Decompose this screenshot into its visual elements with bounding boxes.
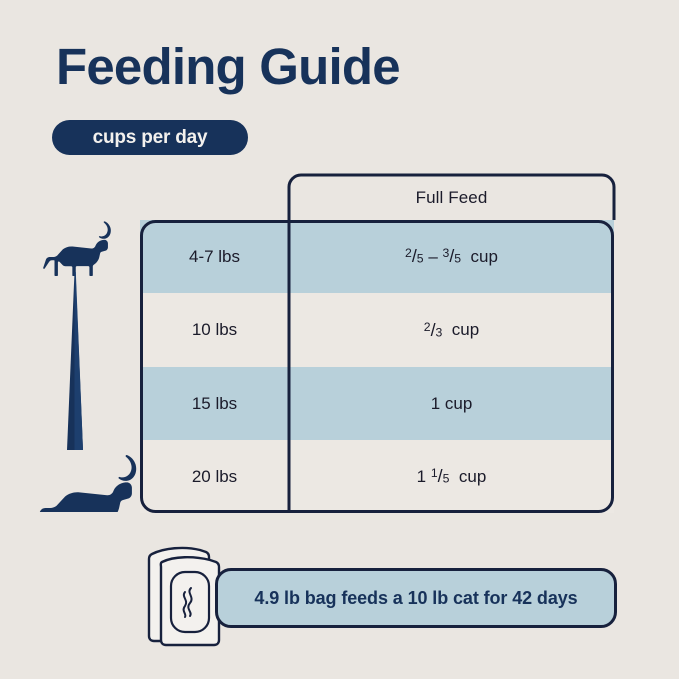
table-outline [142,222,613,512]
bag-callout: 4.9 lb bag feeds a 10 lb cat for 42 days [140,540,630,650]
page-title: Feeding Guide [56,41,400,92]
callout-bar: 4.9 lb bag feeds a 10 lb cat for 42 days [215,568,617,628]
cat-silhouette-small-icon [43,221,111,276]
table-header-full-feed: Full Feed [289,175,614,220]
badge-label: cups per day [93,127,208,149]
cups-per-day-badge: cups per day [52,120,248,155]
table-outline-svg [140,220,614,513]
cat-silhouette-large-icon [36,455,136,512]
cat-scale-svg [30,212,140,512]
cat-size-scale-illustration [30,212,140,512]
feeding-guide-page: Feeding Guide cups per day 4-7 l [0,0,679,679]
callout-text: 4.9 lb bag feeds a 10 lb cat for 42 days [254,588,577,609]
feeding-table: 4-7 lbs 2/5 – 3/5 cup 10 lbs 2/3 cup 15 … [140,220,614,513]
header-label: Full Feed [416,188,488,208]
